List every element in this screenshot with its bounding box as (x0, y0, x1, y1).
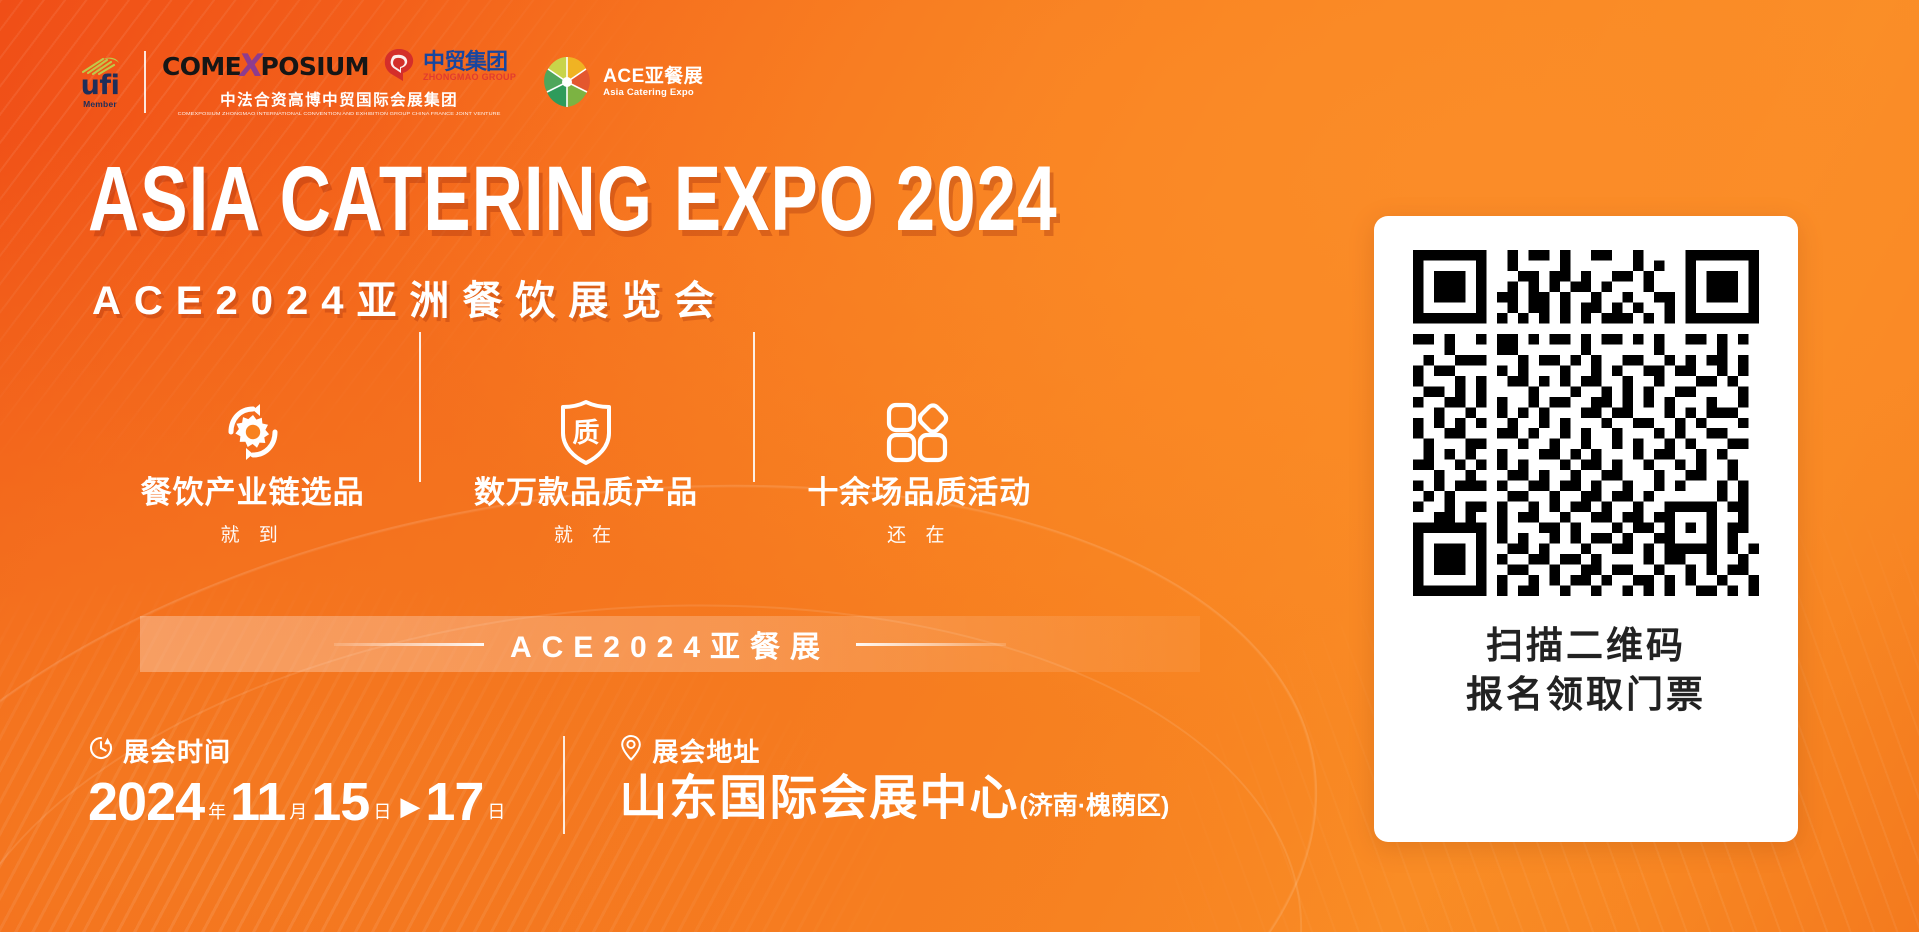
date-day-end-unit: 日 (487, 798, 505, 824)
ace-pinwheel-icon (538, 53, 596, 111)
feature-title: 数万款品质产品 (474, 476, 698, 510)
comexposium-word-right: POSIUM (260, 52, 368, 81)
feature-item-events: 十余场品质活动 还 在 (753, 400, 1086, 560)
date-month: 11 (230, 775, 285, 829)
event-venue-value: 山东国际会展中心 (济南·槐荫区) (619, 775, 1169, 823)
feature-subtitle: 就 到 (221, 520, 285, 547)
location-pin-icon (619, 734, 643, 767)
page-title-chinese: ACE2024亚洲餐饮展览会 (92, 281, 727, 321)
event-info: 展会时间 2024 年 11 月 15 日 ▶ 17 日 (88, 732, 1169, 834)
event-venue-label: 展会地址 (652, 732, 760, 769)
comexposium-word-left: COME (162, 52, 241, 81)
feature-list: 餐饮产业链选品 就 到 质 数万款品质产品 就 在 (86, 400, 1086, 560)
date-day-end: 17 (425, 775, 483, 829)
ufi-wing-icon (79, 55, 121, 75)
venue-district: (济南·槐荫区) (1019, 786, 1169, 822)
qr-caption-line-1: 扫描二维码 (1466, 622, 1706, 671)
date-day-start: 15 (311, 775, 369, 829)
ribbon-text: ACE2024亚餐展 (510, 622, 830, 666)
header-divider-1 (144, 51, 146, 113)
venue-name: 山东国际会展中心 (619, 775, 1019, 823)
date-year-unit: 年 (208, 798, 226, 824)
ufi-logo-text: ufi (81, 75, 120, 98)
zhongmao-en-text: ZHONGMAO GROUP (423, 73, 516, 82)
feature-subtitle: 就 在 (554, 520, 618, 547)
ribbon-line-left (334, 643, 484, 646)
ribbon-band: ACE2024亚餐展 (140, 616, 1200, 672)
qr-caption-line-2: 报名领取门票 (1466, 671, 1706, 720)
ufi-member-logo: ufi Member (72, 55, 128, 109)
gear-cycle-icon (218, 400, 288, 464)
date-day-start-unit: 日 (373, 798, 391, 824)
zhongmao-cn-text: 中贸集团 (423, 51, 516, 73)
comexposium-en-text: COMEXPOSIUM ZHONGMAO INTERNATIONAL CONVE… (178, 111, 501, 116)
page-title-english: ASIA CATERING EXPO 2024 (88, 153, 1058, 245)
event-date-block: 展会时间 2024 年 11 月 15 日 ▶ 17 日 (88, 732, 509, 829)
qr-code-icon[interactable] (1413, 250, 1759, 596)
clock-icon (88, 735, 114, 766)
comexposium-wordmark: COME X POSIUM (162, 48, 369, 84)
ribbon-line-right (856, 643, 1006, 646)
feature-item-quality-products: 质 数万款品质产品 就 在 (419, 400, 752, 560)
feature-subtitle: 还 在 (887, 520, 951, 547)
qr-caption: 扫描二维码 报名领取门票 (1466, 622, 1706, 720)
zhongmao-group-logo: 中贸集团 ZHONGMAO GROUP (379, 47, 516, 85)
event-date-value: 2024 年 11 月 15 日 ▶ 17 日 (88, 775, 509, 829)
feature-item-supply-chain: 餐饮产业链选品 就 到 (86, 400, 419, 560)
ace-logo-en-text: Asia Catering Expo (603, 88, 703, 98)
comexposium-cn-text: 中法合资高博中贸国际会展集团 (220, 88, 458, 110)
squares-diamond-icon (883, 400, 955, 464)
svg-text:质: 质 (572, 418, 599, 448)
event-date-label: 展会时间 (123, 732, 231, 769)
ace-logo-cn-text: ACE亚餐展 (603, 67, 703, 86)
qr-signup-card[interactable]: 扫描二维码 报名领取门票 (1374, 216, 1798, 842)
date-year: 2024 (88, 775, 204, 829)
header-logo-strip: ufi Member COME X POSIUM (72, 44, 703, 120)
feature-title: 十余场品质活动 (807, 476, 1031, 510)
promo-banner: ufi Member COME X POSIUM (0, 0, 1919, 932)
comexposium-zhongmao-logo: COME X POSIUM 中贸集团 ZHONGMAO GROUP (162, 47, 516, 117)
ace-expo-logo: ACE亚餐展 Asia Catering Expo (538, 53, 703, 111)
feature-title: 餐饮产业链选品 (141, 476, 365, 510)
shield-quality-icon: 质 (555, 400, 617, 464)
date-range-arrow-icon: ▶ (400, 791, 420, 822)
info-divider (563, 736, 565, 834)
ufi-member-text: Member (83, 99, 117, 109)
event-venue-block: 展会地址 山东国际会展中心 (济南·槐荫区) (619, 732, 1169, 823)
zhongmao-dragon-icon (379, 47, 419, 85)
date-month-unit: 月 (289, 798, 307, 824)
